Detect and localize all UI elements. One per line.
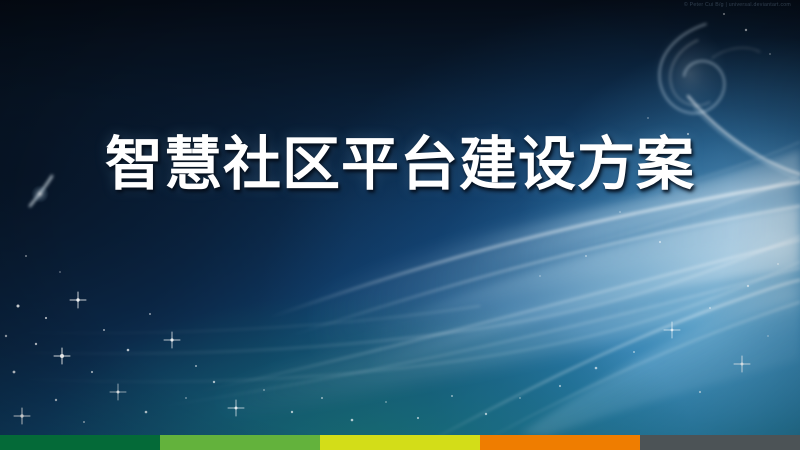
background-vignette [0, 0, 800, 450]
segment-yellow [320, 435, 480, 450]
slide-title: 智慧社区平台建设方案 [105, 132, 695, 197]
copyright-watermark: © Peter Cui B/g | universal.deviantart.c… [684, 2, 791, 8]
bottom-color-bar [0, 435, 800, 450]
segment-orange [480, 435, 640, 450]
presentation-title-slide: © Peter Cui B/g | universal.deviantart.c… [0, 0, 800, 450]
title-block: 智慧社区平台建设方案 [0, 132, 800, 197]
segment-gray [640, 435, 800, 450]
segment-dark-green [0, 435, 160, 450]
segment-light-green [160, 435, 320, 450]
